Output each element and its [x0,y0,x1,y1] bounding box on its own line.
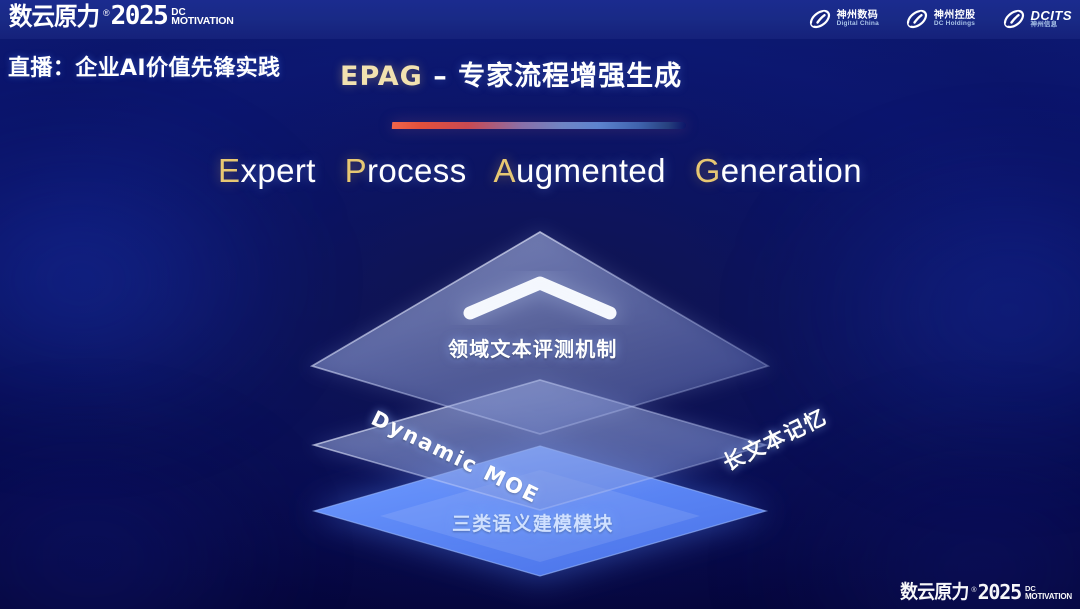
partner-name-en: Digital China [837,21,879,28]
subtitle-space [476,152,486,189]
brand-dc-motivation: DC MOTIVATION [171,8,233,27]
partner-label: 神州数码 Digital China [837,11,879,28]
top-banner: 数云原力 ® 2025 DC MOTIVATION 神州数码 [0,0,1080,39]
partner-logo-group: 神州数码 Digital China 神州控股 DC Holdings [808,7,1072,31]
page-title: EPAG – 专家流程增强生成 [340,54,682,93]
subtitle-word-generation: Generation [695,152,862,189]
subtitle-rest: eneration [721,152,862,189]
watermark-registered-mark: ® [971,587,976,594]
subtitle-rest: ugmented [516,152,666,189]
subtitle-space [676,152,686,189]
brand-name-cn: 数云原力 [9,4,99,29]
subtitle-cap: P [345,152,367,189]
headline-chinese: 专家流程增强生成 [458,61,682,92]
swoosh-icon [808,7,832,31]
brand-motivation-text: MOTIVATION [171,17,233,27]
subtitle-cap: G [695,152,721,189]
partner-logo-dcits: DCITS 神州信息 [1002,7,1073,31]
brand-registered-mark: ® [103,8,110,18]
partner-name-en: 神州信息 [1031,22,1073,29]
headline-acronym: EPAG [340,61,423,92]
subtitle-word-augmented: Augmented [494,152,666,189]
partner-logo-digital-china: 神州数码 Digital China [808,7,879,31]
subtitle-word-process: Process [345,152,467,189]
gradient-divider [392,122,686,129]
page-subtitle: Expert Process Augmented Generation [0,152,1080,190]
subtitle-rest: xpert [240,152,315,189]
watermark-motivation-text: MOTIVATION [1025,593,1072,600]
swoosh-icon [905,7,929,31]
partner-name-en: DC Holdings [934,21,976,28]
subtitle-rest: rocess [367,152,467,189]
subtitle-space [325,152,335,189]
brand-year: 2025 [111,3,168,29]
subtitle-cap: E [218,152,240,189]
partner-label: 神州控股 DC Holdings [934,11,976,28]
subtitle-word-expert: Expert [218,152,316,189]
brand-logo: 数云原力 ® 2025 DC MOTIVATION [6,3,234,29]
live-stream-title: 直播：企业AI价值先锋实践 [8,50,280,82]
headline-separator: – [423,61,458,92]
slide-canvas: 数云原力 ® 2025 DC MOTIVATION 神州数码 [0,0,1080,609]
watermark-name-cn: 数云原力 [900,583,968,602]
swoosh-icon [1002,7,1026,31]
partner-label: DCITS 神州信息 [1031,9,1073,29]
watermark-dc-motivation: DC MOTIVATION [1025,586,1072,600]
partner-logo-dc-holdings: 神州控股 DC Holdings [905,7,976,31]
subtitle-cap: A [494,152,516,189]
watermark-year: 2025 [978,582,1021,602]
top-layer-plate [312,232,768,434]
watermark-logo: 数云原力 ® 2025 DC MOTIVATION [898,582,1072,602]
